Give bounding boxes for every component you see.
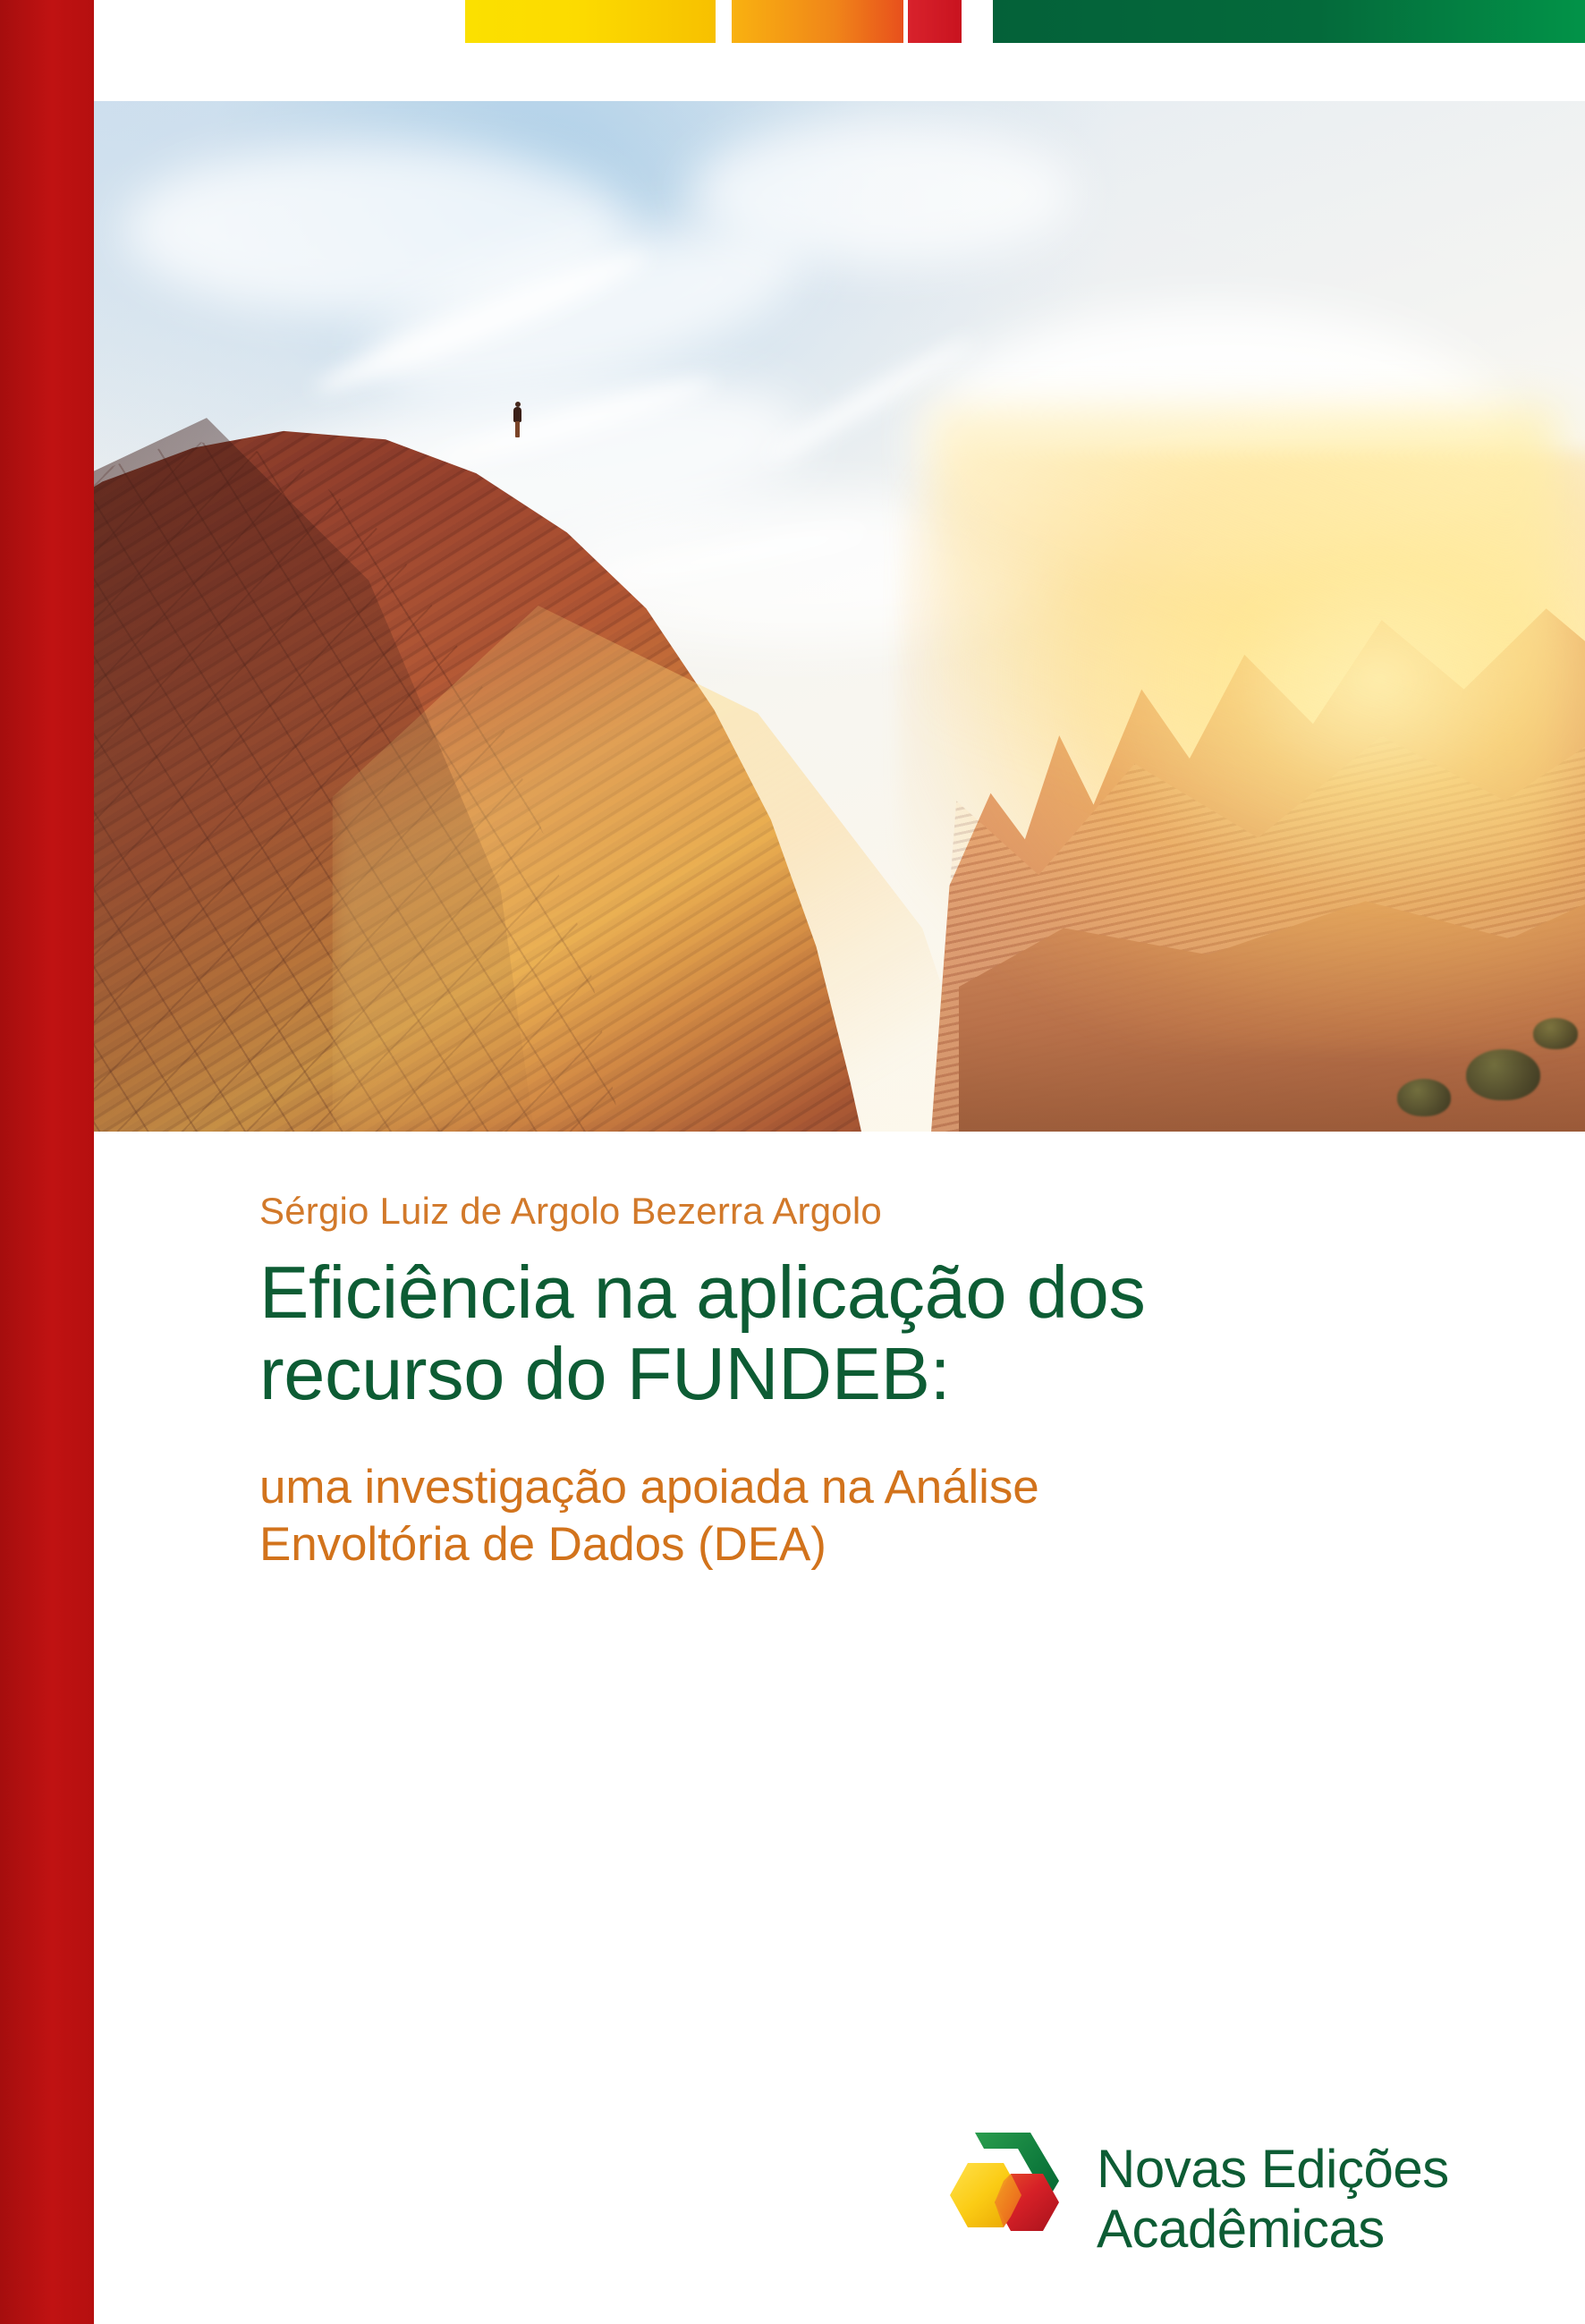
book-subtitle-line-2: Envoltória de Dados (DEA)	[259, 1518, 826, 1571]
publisher-name-line-1: Novas Edições	[1097, 2139, 1449, 2199]
color-bar-orange	[732, 0, 903, 43]
book-title-line-2: recurso do FUNDEB:	[259, 1332, 950, 1415]
book-title: Eficiência na aplicação dos recurso do F…	[259, 1252, 1351, 1414]
sun-beam	[929, 411, 1555, 885]
top-color-band	[94, 0, 1585, 43]
hexagon-logo-icon	[928, 2129, 1072, 2269]
color-bar-yellow	[465, 0, 716, 43]
hiker-legs	[515, 421, 520, 437]
cloud	[691, 122, 1078, 266]
desert-shrub	[1466, 1049, 1540, 1101]
desert-shrub	[1533, 1018, 1578, 1049]
color-bar-green	[993, 0, 1585, 43]
hiker-torso	[513, 407, 521, 422]
spine-stripe	[0, 0, 94, 2324]
publisher-name-line-2: Acadêmicas	[1097, 2199, 1449, 2259]
publisher-name: Novas Edições Acadêmicas	[1097, 2139, 1449, 2259]
publisher-logo: Novas Edições Acadêmicas	[928, 2118, 1555, 2279]
hiker-silhouette	[512, 402, 523, 437]
book-cover: Sérgio Luiz de Argolo Bezerra Argolo Efi…	[0, 0, 1585, 2324]
cover-photo	[94, 101, 1585, 1132]
book-subtitle: uma investigação apoiada na Análise Envo…	[259, 1459, 1360, 1573]
book-title-line-1: Eficiência na aplicação dos	[259, 1251, 1145, 1334]
desert-shrub	[1397, 1079, 1451, 1115]
spine-gradient	[0, 0, 94, 2324]
cover-text-block: Sérgio Luiz de Argolo Bezerra Argolo Efi…	[259, 1190, 1386, 1573]
color-bar-red	[908, 0, 962, 43]
author-name: Sérgio Luiz de Argolo Bezerra Argolo	[259, 1190, 1386, 1233]
book-subtitle-line-1: uma investigação apoiada na Análise	[259, 1461, 1039, 1514]
